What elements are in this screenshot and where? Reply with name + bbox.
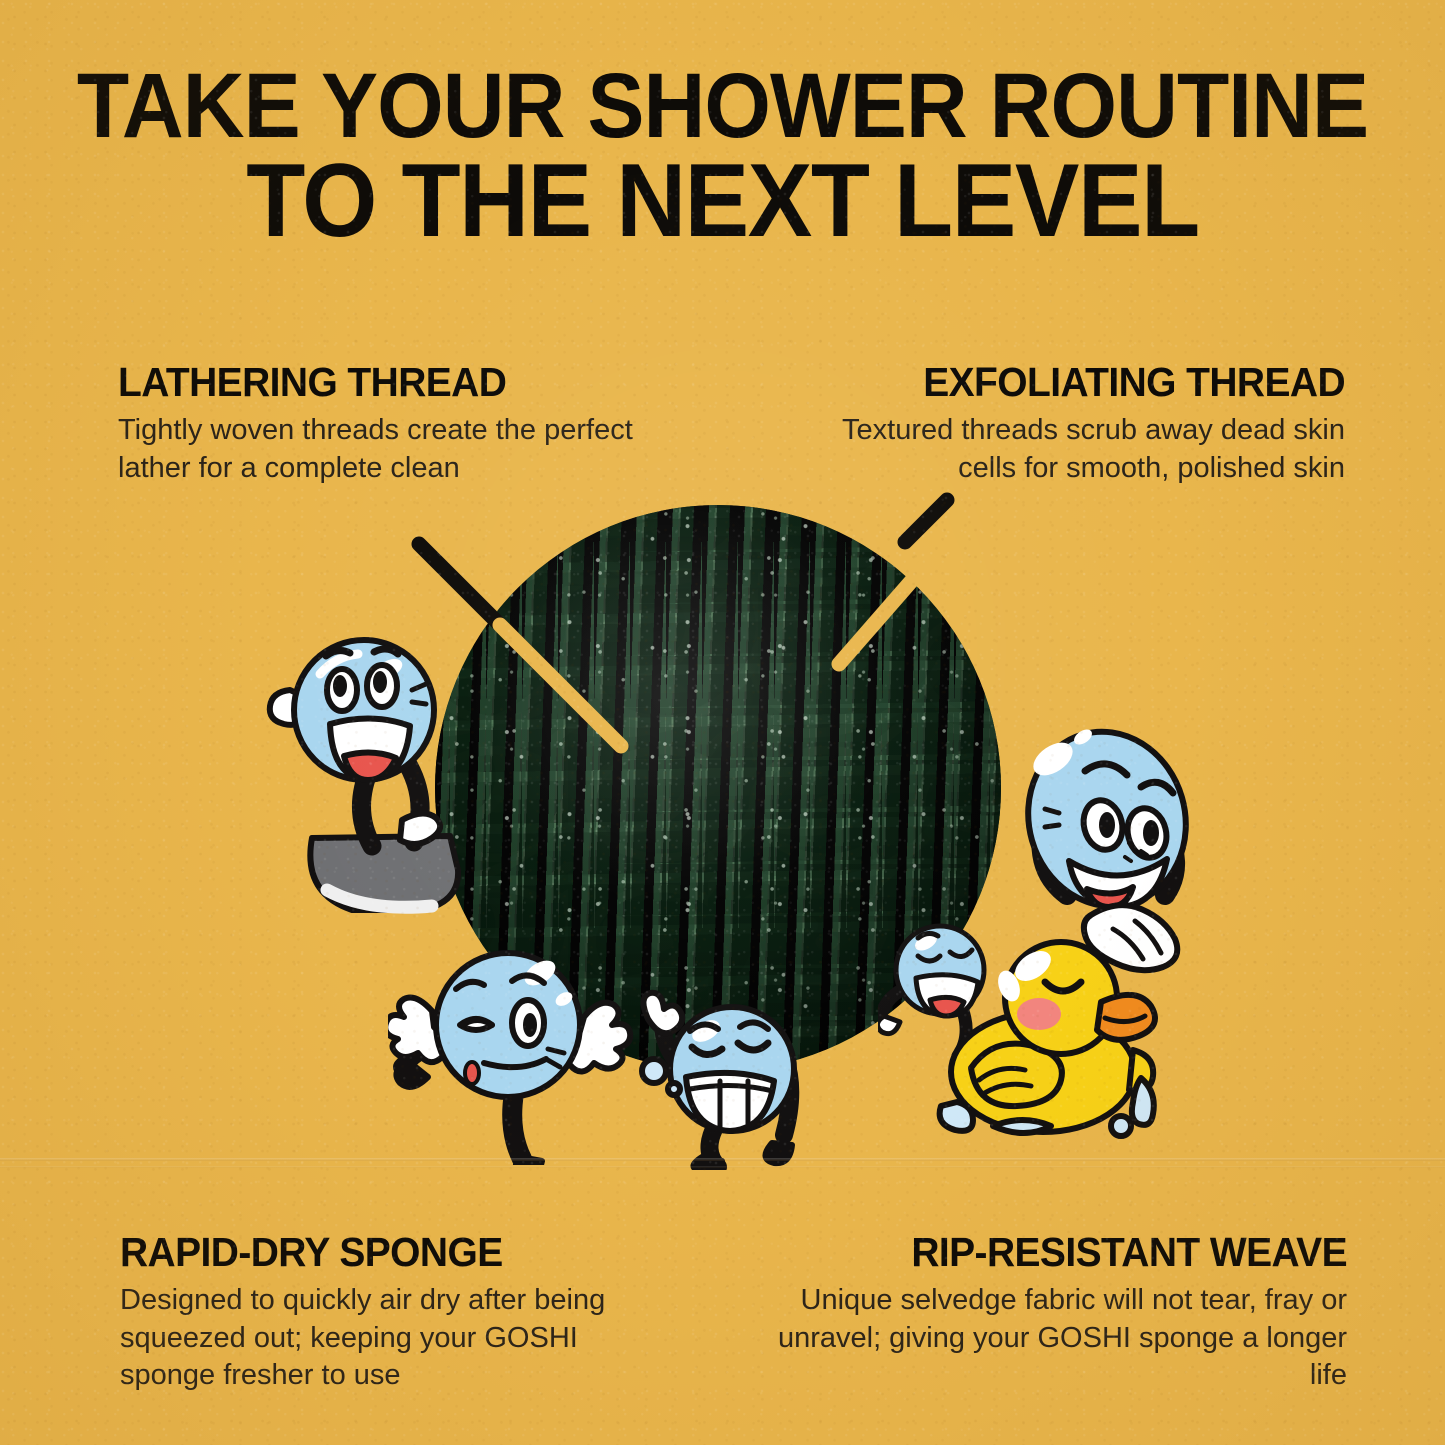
headline: TAKE YOUR SHOWER ROUTINE TO THE NEXT LEV…: [0, 62, 1445, 252]
headline-line-2: TO THE NEXT LEVEL: [51, 151, 1395, 252]
headline-line-1: TAKE YOUR SHOWER ROUTINE: [51, 62, 1395, 151]
feature-body-lathering-thread: Tightly woven threads create the perfect…: [118, 412, 658, 487]
feature-title-rapid-dry-sponge: RAPID-DRY SPONGE: [120, 1232, 633, 1273]
feature-body-rapid-dry-sponge: Designed to quickly air dry after being …: [120, 1282, 660, 1395]
feature-lathering-thread: LATHERING THREAD Tightly woven threads c…: [118, 362, 658, 487]
feature-title-lathering-thread: LATHERING THREAD: [118, 362, 631, 403]
feature-body-exfoliating-thread: Textured threads scrub away dead skin ce…: [785, 412, 1345, 487]
feature-rapid-dry-sponge: RAPID-DRY SPONGE Designed to quickly air…: [120, 1232, 660, 1395]
bubble-mascot-dancer: [388, 925, 658, 1165]
bubble-mascot-surfer: [252, 628, 482, 928]
feature-title-rip-resistant-weave: RIP-RESISTANT WEAVE: [796, 1232, 1347, 1273]
rubber-duck: [935, 930, 1160, 1145]
bubble-mascot-laughing: [620, 985, 855, 1170]
feature-exfoliating-thread: EXFOLIATING THREAD Textured threads scru…: [785, 362, 1345, 487]
feature-title-exfoliating-thread: EXFOLIATING THREAD: [813, 362, 1345, 403]
feature-rip-resistant-weave: RIP-RESISTANT WEAVE Unique selvedge fabr…: [767, 1232, 1347, 1395]
poster-canvas: TAKE YOUR SHOWER ROUTINE TO THE NEXT LEV…: [0, 0, 1445, 1445]
feature-body-rip-resistant-weave: Unique selvedge fabric will not tear, fr…: [767, 1282, 1347, 1395]
